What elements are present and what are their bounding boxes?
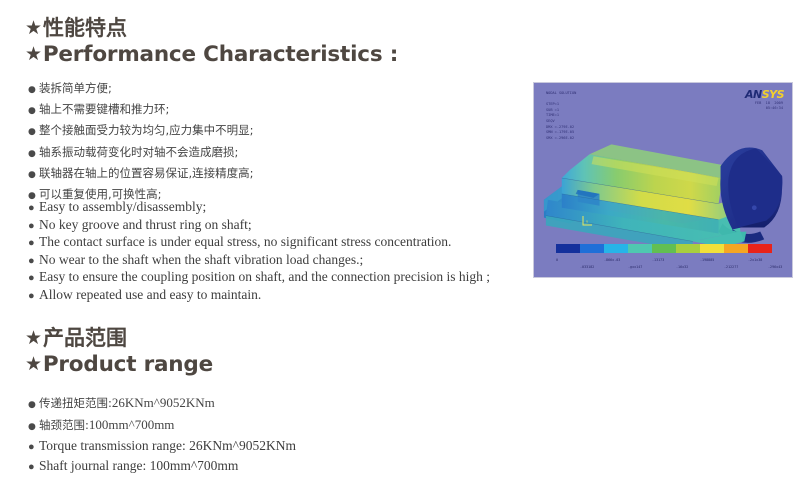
- ansys-logo-an: AN: [745, 88, 762, 101]
- list-item: ●联轴器在轴上的位置容易保证,连接精度高;: [28, 164, 254, 185]
- bullet-icon: ●: [28, 102, 39, 121]
- product-range-heading-block: ★产品范围 ★Product range: [25, 326, 213, 378]
- list-item-label: Easy to ensure the coupling position on …: [39, 269, 490, 284]
- list-item-label: Shaft journal range: 100mm^700mm: [39, 458, 238, 473]
- list-item-label: The contact surface is under equal stres…: [39, 234, 451, 249]
- bullet-icon: ●: [28, 218, 39, 235]
- list-item-label: 联轴器在轴上的位置容易保证,连接精度高;: [39, 166, 254, 180]
- legend-swatch: [628, 244, 652, 253]
- star-icon: ★: [25, 326, 42, 351]
- bullet-icon: ●: [28, 81, 39, 100]
- legend-swatch: [700, 244, 724, 253]
- list-item: ●装拆简单方便;: [28, 79, 254, 100]
- list-item-label: No key groove and thrust ring on shaft;: [39, 217, 252, 232]
- bullet-icon: ●: [28, 288, 39, 305]
- product-range-heading-cn: ★产品范围: [25, 326, 213, 351]
- list-item: ●Torque transmission range: 26KNm^9052KN…: [28, 437, 296, 457]
- star-icon: ★: [25, 16, 42, 41]
- list-item-label: No wear to the shaft when the shaft vibr…: [39, 252, 363, 267]
- performance-heading-en: ★Performance Characteristics :: [25, 41, 398, 68]
- legend-label: .16x32: [676, 265, 688, 269]
- bullet-icon: ●: [28, 439, 39, 457]
- list-item: ●Easy to ensure the coupling position on…: [28, 269, 490, 287]
- bullet-icon: ●: [28, 200, 39, 217]
- list-item: ●Shaft journal range: 100mm^700mm: [28, 457, 296, 477]
- legend-swatch: [676, 244, 700, 253]
- bullet-icon: ●: [28, 123, 39, 142]
- product-range-heading-en-text: Product range: [43, 352, 213, 377]
- legend-label: .13173: [652, 258, 664, 262]
- legend-label: .033182: [580, 265, 594, 269]
- legend-label: .2x1x38: [748, 258, 762, 262]
- ansys-logo-sys: SYS: [762, 88, 784, 101]
- bullet-icon: ●: [28, 395, 39, 415]
- list-item-label: 轴颈范围:: [39, 418, 89, 432]
- performance-heading-en-text: Performance Characteristics :: [43, 42, 398, 67]
- bullet-icon: ●: [28, 166, 39, 185]
- legend-label: .212277: [724, 265, 738, 269]
- list-item-label: 传递扭矩范围:: [39, 396, 112, 410]
- product-range-heading-en: ★Product range: [25, 351, 213, 378]
- list-item: ●整个接触面受力较为均匀,应力集中不明显;: [28, 121, 254, 142]
- bullet-icon: ●: [28, 145, 39, 164]
- list-item-label: 轴上不需要键槽和推力环;: [39, 102, 169, 116]
- fea-legend-labels: 0 .866x-03 .13173 .198885 .2x1x38 .03318…: [548, 255, 784, 273]
- list-item-label: 装拆简单方便;: [39, 81, 112, 95]
- legend-label: .296x43: [768, 265, 782, 269]
- fea-metadata-text: NODAL SOLUTION STEP=1 SUB =1 TIME=1 SEQV…: [546, 91, 576, 141]
- list-item: ●轴系振动载荷变化时对轴不会造成磨损;: [28, 143, 254, 164]
- legend-swatch: [724, 244, 748, 253]
- star-icon: ★: [25, 41, 42, 67]
- list-item-value: 100mm^700mm: [89, 417, 175, 432]
- star-icon: ★: [25, 351, 42, 377]
- list-item: ●Allow repeated use and easy to maintain…: [28, 287, 490, 305]
- list-item-label: 轴系振动载荷变化时对轴不会造成磨损;: [39, 145, 238, 159]
- list-item: ●传递扭矩范围:26KNm^9052KNm: [28, 393, 215, 415]
- legend-swatch: [748, 244, 772, 253]
- ansys-fea-figure: Y NODAL SOLUTION STEP=1 SUB =1 TIME=1 SE…: [533, 82, 793, 278]
- fea-legend-bar: [556, 244, 772, 253]
- bullet-icon: ●: [28, 253, 39, 270]
- legend-swatch: [580, 244, 604, 253]
- legend-label: 0: [556, 258, 558, 262]
- list-item: ●No wear to the shaft when the shaft vib…: [28, 252, 490, 270]
- list-item: ●No key groove and thrust ring on shaft;: [28, 217, 490, 235]
- list-item: ●轴颈范围:100mm^700mm: [28, 415, 215, 437]
- performance-heading-cn: ★性能特点: [25, 16, 398, 41]
- list-item: ●Easy to assembly/disassembly;: [28, 199, 490, 217]
- legend-swatch: [652, 244, 676, 253]
- list-item-value: 26KNm^9052KNm: [112, 395, 215, 410]
- performance-heading-cn-text: 性能特点: [43, 16, 127, 40]
- legend-label: .198885: [700, 258, 714, 262]
- legend-swatch: [556, 244, 580, 253]
- performance-list-en: ●Easy to assembly/disassembly; ●No key g…: [28, 199, 490, 305]
- bullet-icon: ●: [28, 235, 39, 252]
- bullet-icon: ●: [28, 459, 39, 477]
- list-item-label: Easy to assembly/disassembly;: [39, 199, 206, 214]
- fea-date-stamp: FEB 18 2009 05:46:34: [755, 101, 783, 112]
- product-range-list-en: ●Torque transmission range: 26KNm^9052KN…: [28, 437, 296, 476]
- product-range-heading-cn-text: 产品范围: [43, 326, 127, 350]
- list-item-label: Allow repeated use and easy to maintain.: [39, 287, 261, 302]
- performance-list-cn: ●装拆简单方便; ●轴上不需要键槽和推力环; ●整个接触面受力较为均匀,应力集中…: [28, 79, 254, 206]
- legend-label: .866x-03: [604, 258, 620, 262]
- list-item-label: Torque transmission range: 26KNm^9052KNm: [39, 438, 296, 453]
- legend-label: .gxx147: [628, 265, 642, 269]
- list-item-label: 整个接触面受力较为均匀,应力集中不明显;: [39, 123, 254, 137]
- bullet-icon: ●: [28, 417, 39, 437]
- axis-triad-icon: Y: [580, 215, 594, 229]
- svg-text:Y: Y: [586, 220, 589, 224]
- product-range-list-cn: ●传递扭矩范围:26KNm^9052KNm ●轴颈范围:100mm^700mm: [28, 393, 215, 437]
- legend-swatch: [604, 244, 628, 253]
- ansys-logo: ANSYS: [745, 88, 784, 101]
- list-item: ●轴上不需要键槽和推力环;: [28, 100, 254, 121]
- list-item: ●The contact surface is under equal stre…: [28, 234, 490, 252]
- bullet-icon: ●: [28, 270, 39, 287]
- performance-heading-block: ★性能特点 ★Performance Characteristics :: [25, 16, 398, 68]
